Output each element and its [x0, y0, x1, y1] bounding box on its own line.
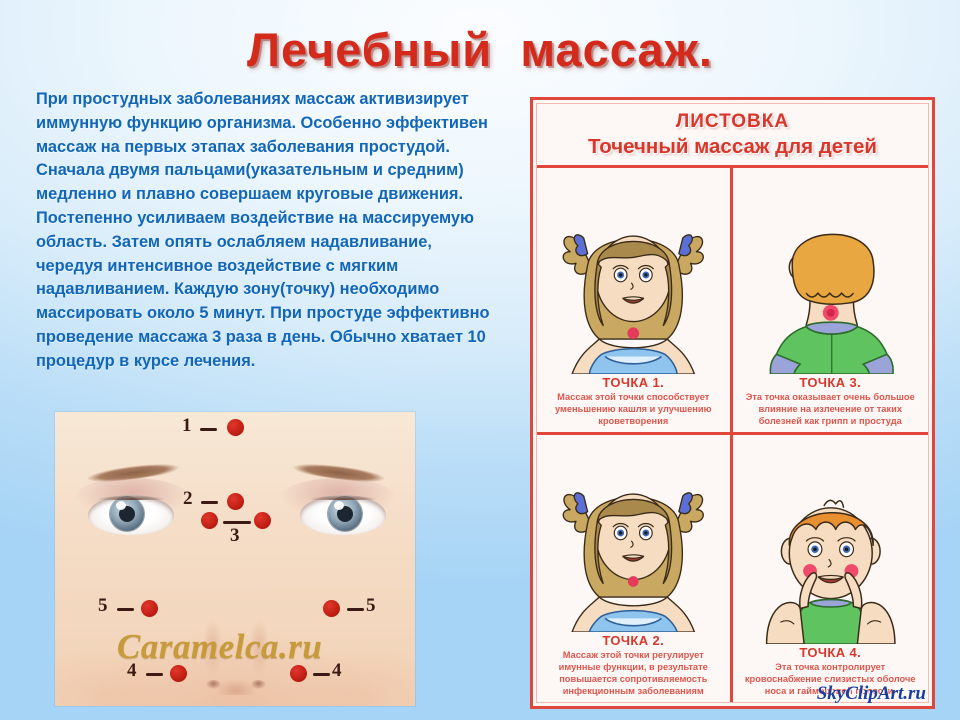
point-label-5-right: 5 — [366, 595, 376, 617]
slide-canvas: Лечебный массаж. При простудных заболева… — [0, 0, 960, 720]
caramelca-watermark: Caramelca.ru — [117, 627, 387, 667]
poster-header: ЛИСТОВКА Точечный массаж для детей — [537, 104, 928, 165]
poster-panel-point-4: ТОЧКА 4. Эта точка контролирует кровосна… — [733, 435, 929, 702]
point-leader-5-right — [347, 608, 364, 611]
poster-header-line1: ЛИСТОВКА — [541, 111, 924, 133]
caption-heading: ТОЧКА 3. — [740, 375, 922, 390]
caption-point-1: ТОЧКА 1. Массаж этой точки способствует … — [541, 374, 726, 429]
eyelash-left — [87, 492, 175, 500]
caption-heading: ТОЧКА 4. — [740, 645, 922, 660]
point-leader-3 — [223, 521, 251, 524]
point-leader-5-left — [117, 608, 134, 611]
eye-glint-left — [116, 501, 126, 510]
point-leader-2 — [201, 501, 218, 504]
point-dot-5-left — [141, 600, 158, 617]
poster-inner-frame: ЛИСТОВКА Точечный массаж для детей — [536, 103, 929, 703]
point-dot-2 — [227, 493, 244, 510]
girl-front-svg — [541, 170, 726, 374]
poster-panel-point-2: ТОЧКА 2. Массаж этой точки регулирует им… — [537, 435, 733, 702]
nostril-left — [206, 680, 221, 689]
point-dot-4-right — [290, 665, 307, 682]
caption-text: Эта точка оказывает очень большое влияни… — [740, 391, 922, 427]
point-label-3: 3 — [230, 525, 240, 547]
page-title: Лечебный массаж. — [0, 22, 960, 77]
caption-heading: ТОЧКА 2. — [544, 633, 723, 648]
point-dot-5-right — [323, 600, 340, 617]
caption-text: Массаж этой точки регулирует имунные фун… — [544, 649, 723, 697]
poster-panel-point-3: ТОЧКА 3. Эта точка оказывает очень больш… — [733, 168, 929, 435]
caption-text: Массаж этой точки способствует уменьшени… — [544, 391, 723, 427]
illustration-boy-neck-point — [737, 170, 925, 374]
iris-right — [328, 497, 362, 531]
point-leader-4-left — [146, 673, 163, 676]
girl-front-svg-2 — [541, 437, 726, 632]
acupressure-face-photo: 1 2 3 5 5 4 4 Caramelca.ru — [55, 412, 415, 706]
point-leader-1 — [200, 428, 217, 431]
illustration-girl-chest-point — [541, 170, 726, 374]
poster-panel-point-1: ТОЧКА 1. Массаж этой точки способствует … — [537, 168, 733, 435]
pointmassage-poster: ЛИСТОВКА Точечный массаж для детей — [530, 97, 935, 709]
eye-glint-right — [334, 501, 344, 510]
point-dot-1 — [227, 419, 244, 436]
nostril-right — [251, 680, 266, 689]
point-label-1: 1 — [182, 415, 192, 437]
point-dot-4-left — [170, 665, 187, 682]
boy-front-svg — [737, 437, 925, 644]
skyclipart-watermark: SkyClipArt.ru — [817, 683, 926, 705]
illustration-boy-nose-point — [737, 437, 925, 644]
poster-header-line2: Точечный массаж для детей — [541, 135, 924, 159]
point-leader-4-right — [313, 673, 330, 676]
point-dot-3-left — [201, 512, 218, 529]
illustration-girl-throat-point — [541, 437, 726, 632]
eye-left — [88, 495, 174, 535]
caption-point-2: ТОЧКА 2. Массаж этой точки регулирует им… — [541, 632, 726, 699]
point-dot-3-right — [254, 512, 271, 529]
iris-left — [110, 497, 144, 531]
caption-heading: ТОЧКА 1. — [544, 375, 723, 390]
boy-back-svg — [737, 170, 925, 374]
eyelash-right — [299, 492, 387, 500]
point-label-2: 2 — [183, 488, 193, 510]
poster-panel-grid: ТОЧКА 1. Массаж этой точки способствует … — [537, 165, 928, 702]
eye-right — [300, 495, 386, 535]
body-paragraph: При простудных заболеваниях массаж актив… — [36, 88, 496, 374]
caption-point-3: ТОЧКА 3. Эта точка оказывает очень больш… — [737, 374, 925, 429]
point-label-5-left: 5 — [98, 595, 108, 617]
